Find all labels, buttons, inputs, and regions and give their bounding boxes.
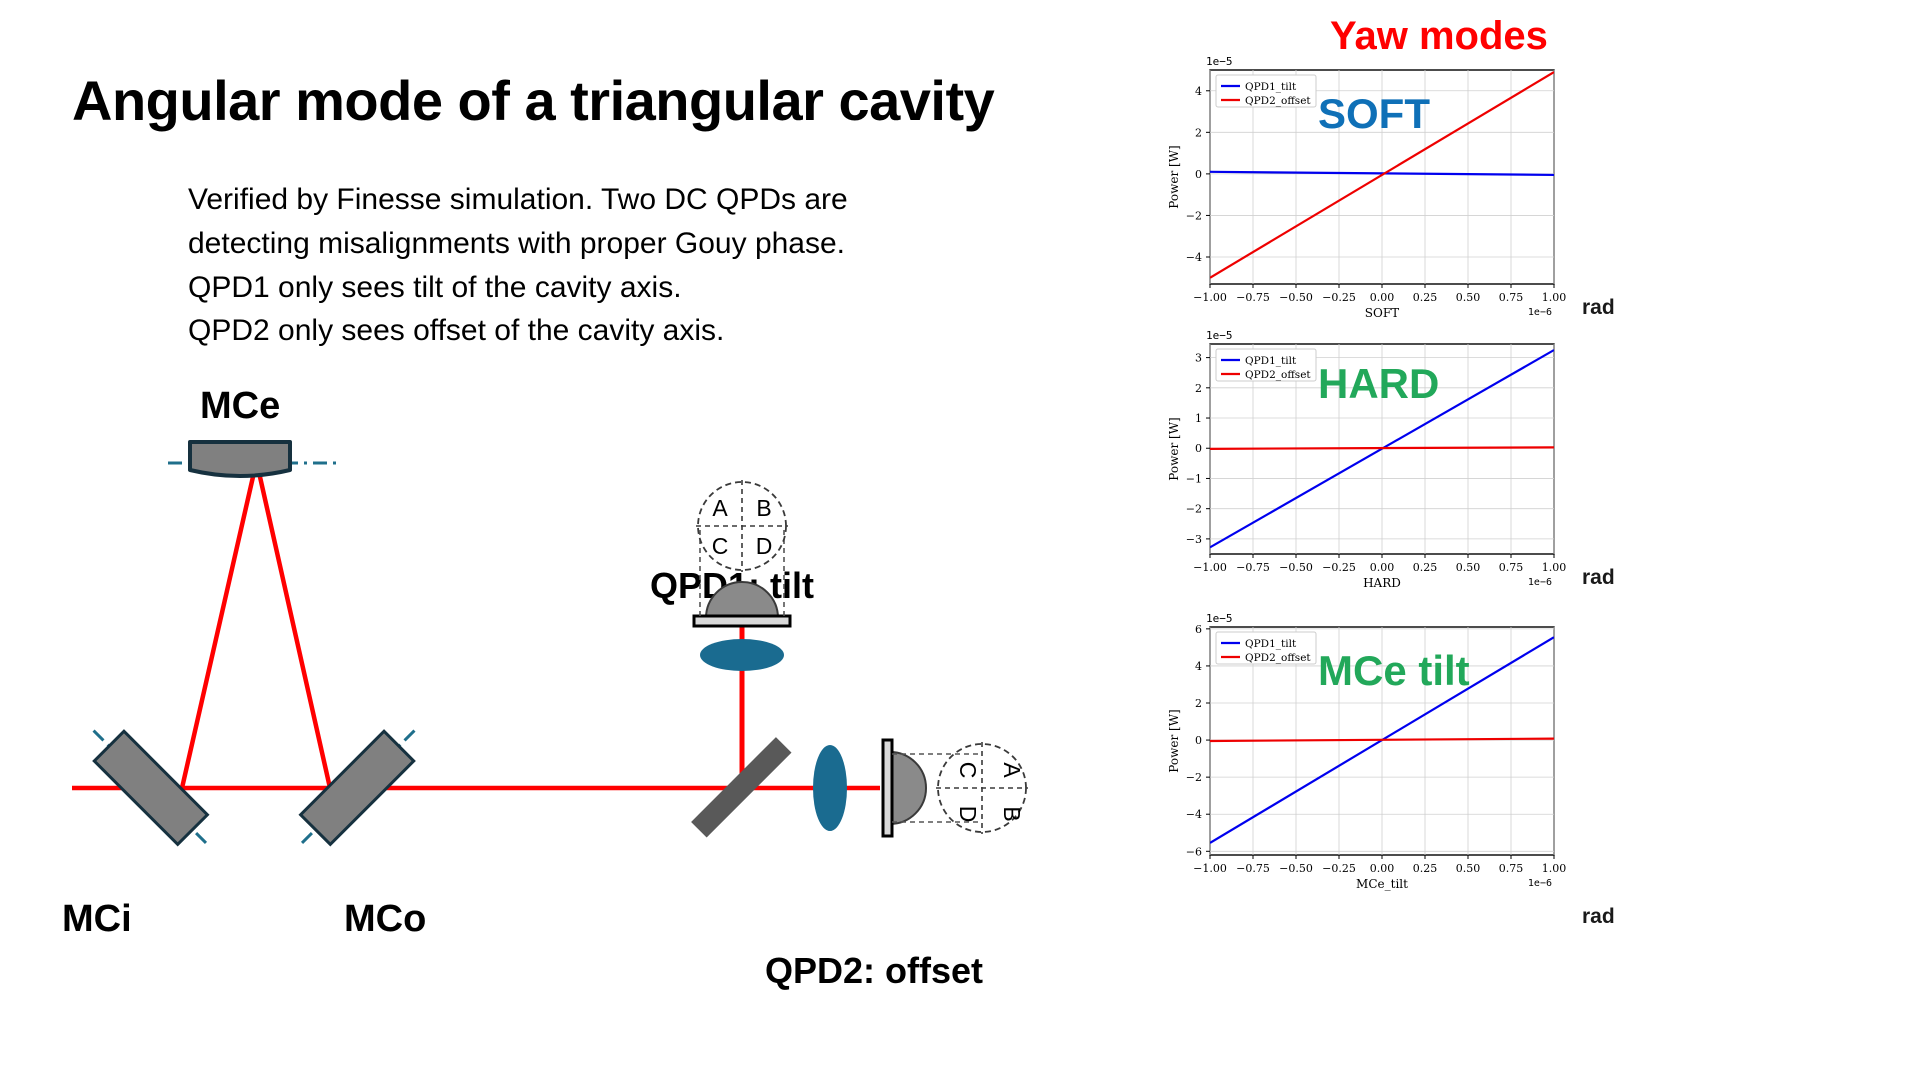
series-line-QPD2_offset [1210, 447, 1554, 449]
xtick-label: 0.00 [1370, 291, 1395, 304]
ytick-label: −2 [1186, 209, 1202, 222]
ytick-label: −2 [1186, 503, 1202, 516]
qpd2-quadrant-c: C [955, 762, 981, 779]
mode-tag-hard: HARD [1318, 360, 1439, 408]
ytick-label: 3 [1195, 352, 1202, 365]
xtick-label: −0.25 [1322, 561, 1356, 574]
qpd1-quadrant-d: D [756, 533, 773, 559]
ylabel: Power [W] [1167, 417, 1181, 480]
legend-label: QPD1_tilt [1245, 81, 1297, 93]
x-offset-text: 1e−6 [1528, 307, 1552, 318]
photodiode-qpd1 [694, 582, 790, 626]
beam-mce-to-mco [258, 468, 330, 788]
ytick-label: 0 [1195, 168, 1202, 181]
beam-mci-to-mce [182, 468, 255, 788]
chart-hard: −1.00−0.75−0.50−0.250.000.250.500.751.00… [1150, 330, 1570, 592]
xtick-label: 1.00 [1542, 862, 1567, 875]
xlabel: MCe_tilt [1356, 877, 1408, 891]
y-offset-text: 1e−5 [1206, 612, 1233, 625]
ytick-label: 2 [1195, 697, 1202, 710]
body-line-1: Verified by Finesse simulation. Two DC Q… [188, 178, 1008, 222]
ytick-label: 6 [1195, 623, 1202, 636]
y-offset-text: 1e−5 [1206, 330, 1233, 342]
xtick-label: −0.50 [1279, 291, 1313, 304]
ytick-label: 0 [1195, 734, 1202, 747]
ytick-label: −4 [1186, 808, 1202, 821]
xtick-label: 0.75 [1499, 291, 1524, 304]
mode-tag-mce_tilt: MCe tilt [1318, 647, 1470, 695]
xtick-label: 0.25 [1413, 862, 1438, 875]
optical-layout-diagram: A B C D A B C D [0, 330, 1120, 1030]
qpd1-quadrant-a: A [712, 495, 728, 521]
ytick-label: 2 [1195, 126, 1202, 139]
chart-mce-tilt: −1.00−0.75−0.50−0.250.000.250.500.751.00… [1150, 605, 1570, 903]
ytick-label: −3 [1186, 533, 1202, 546]
lens-qpd2 [813, 745, 847, 831]
ylabel: Power [W] [1167, 145, 1181, 208]
xtick-label: 0.75 [1499, 862, 1524, 875]
xtick-label: 1.00 [1542, 561, 1567, 574]
mode-tag-soft: SOFT [1318, 90, 1430, 138]
ytick-label: 0 [1195, 442, 1202, 455]
qpd1-quadrant-c: C [712, 533, 729, 559]
legend-label: QPD2_offset [1245, 369, 1311, 381]
ytick-label: −2 [1186, 771, 1202, 784]
xlabel: HARD [1363, 576, 1401, 590]
legend-label: QPD1_tilt [1245, 638, 1297, 650]
unit-label-soft: rad [1582, 296, 1615, 320]
ytick-label: 2 [1195, 382, 1202, 395]
xtick-label: 1.00 [1542, 291, 1567, 304]
xtick-label: −0.75 [1236, 561, 1270, 574]
xlabel: SOFT [1365, 306, 1399, 320]
xtick-label: −0.75 [1236, 862, 1270, 875]
legend-label: QPD2_offset [1245, 652, 1311, 664]
xtick-label: 0.25 [1413, 561, 1438, 574]
page-title: Angular mode of a triangular cavity [72, 72, 1122, 131]
qpd2-quadrant-a: A [999, 762, 1025, 778]
qpd2-quadrant-b: B [999, 806, 1025, 821]
quad-detector-qpd2: A B C D [936, 742, 1028, 834]
chart-legend: QPD1_tiltQPD2_offset [1216, 349, 1316, 381]
quad-detector-qpd1: A B C D [696, 480, 788, 572]
xtick-label: 0.50 [1456, 561, 1481, 574]
xtick-label: 0.00 [1370, 862, 1395, 875]
legend-label: QPD1_tilt [1245, 355, 1297, 367]
chart-legend: QPD1_tiltQPD2_offset [1216, 75, 1316, 107]
xtick-label: −1.00 [1193, 862, 1227, 875]
mirror-mce [190, 442, 290, 476]
xtick-label: −1.00 [1193, 561, 1227, 574]
ytick-label: 4 [1195, 660, 1202, 673]
xtick-label: −0.50 [1279, 862, 1313, 875]
chart-soft: −1.00−0.75−0.50−0.250.000.250.500.751.00… [1150, 52, 1570, 320]
xtick-label: 0.75 [1499, 561, 1524, 574]
ytick-label: −1 [1186, 472, 1202, 485]
xtick-label: −0.50 [1279, 561, 1313, 574]
body-line-2: detecting misalignments with proper Gouy… [188, 222, 1008, 266]
lens-qpd1 [700, 639, 784, 671]
qpd1-quadrant-b: B [756, 495, 771, 521]
xtick-label: −0.75 [1236, 291, 1270, 304]
xtick-label: 0.50 [1456, 862, 1481, 875]
xtick-label: 0.50 [1456, 291, 1481, 304]
chart-legend: QPD1_tiltQPD2_offset [1216, 632, 1316, 664]
xtick-label: −1.00 [1193, 291, 1227, 304]
xtick-label: −0.25 [1322, 291, 1356, 304]
x-offset-text: 1e−6 [1528, 878, 1552, 889]
xtick-label: 0.25 [1413, 291, 1438, 304]
legend-label: QPD2_offset [1245, 95, 1311, 107]
ytick-label: 4 [1195, 85, 1202, 98]
unit-label-mce_tilt: rad [1582, 905, 1615, 929]
ytick-label: 1 [1195, 412, 1202, 425]
ylabel: Power [W] [1167, 709, 1181, 772]
x-offset-text: 1e−6 [1528, 577, 1552, 588]
ytick-label: −4 [1186, 251, 1202, 264]
body-text: Verified by Finesse simulation. Two DC Q… [188, 178, 1008, 353]
body-line-3: QPD1 only sees tilt of the cavity axis. [188, 266, 1008, 310]
xtick-label: −0.25 [1322, 862, 1356, 875]
unit-label-hard: rad [1582, 566, 1615, 590]
xtick-label: 0.00 [1370, 561, 1395, 574]
qpd2-quadrant-d: D [955, 806, 981, 823]
y-offset-text: 1e−5 [1206, 55, 1233, 68]
ytick-label: −6 [1186, 845, 1202, 858]
